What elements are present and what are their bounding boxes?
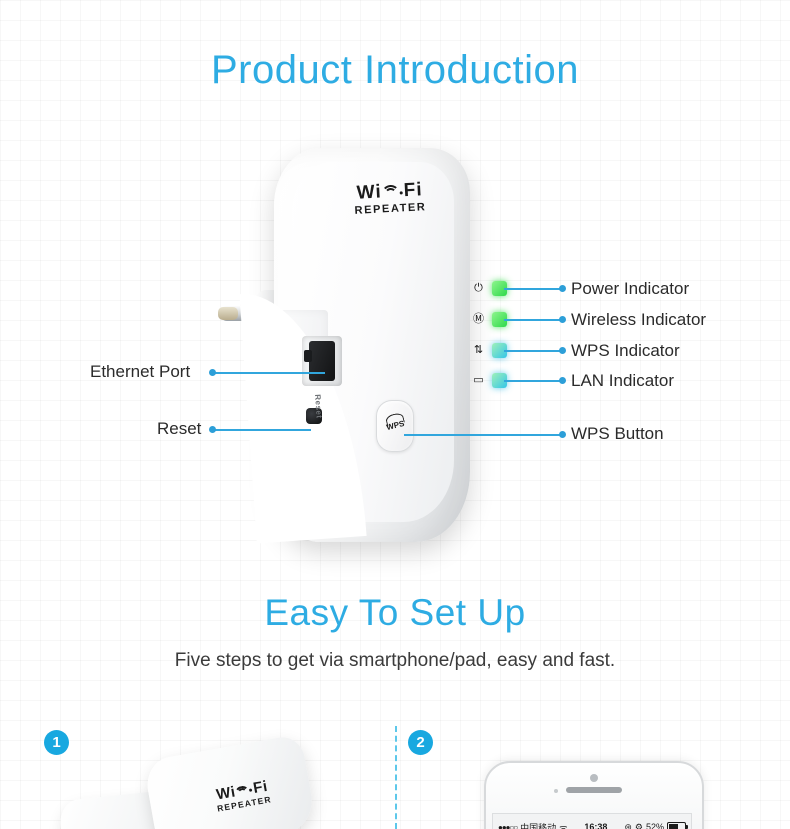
carrier-name: 中国移动 bbox=[520, 821, 556, 829]
callout-label-wps-button: WPS Button bbox=[571, 424, 664, 444]
callout-line-wps-button bbox=[404, 434, 564, 436]
phone-speaker-grille bbox=[566, 787, 622, 793]
rotation-lock-icon: ⚙ bbox=[635, 822, 643, 829]
phone-camera-icon bbox=[590, 774, 598, 782]
callout-dot-wps bbox=[559, 347, 566, 354]
wps-icon: ⇅ bbox=[472, 344, 485, 357]
status-bar-right: ⊛ ⚙ 52% bbox=[624, 822, 686, 829]
wifi-signal-icon bbox=[381, 185, 399, 200]
callout-line-wps bbox=[504, 350, 564, 352]
callout-label-wps-indicator: WPS Indicator bbox=[571, 341, 680, 361]
wifi-repeater-illustration: WiFi REPEATER Reset ⏻ Ⓜ ⇅ ▭ bbox=[196, 140, 556, 560]
callout-label-ethernet-port: Ethernet Port bbox=[90, 362, 190, 382]
callout-line-wireless bbox=[504, 319, 564, 321]
battery-icon bbox=[667, 822, 686, 829]
callout-dot-wps-button bbox=[559, 431, 566, 438]
callout-label-wireless-indicator: Wireless Indicator bbox=[571, 310, 706, 330]
callout-dot-power bbox=[559, 285, 566, 292]
wps-button[interactable]: WPS bbox=[376, 400, 414, 452]
infographic-page: Product Introduction WiFi REPEATER Reset… bbox=[0, 0, 790, 829]
battery-percent: 52% bbox=[646, 822, 664, 829]
brand-fi-text: Fi bbox=[403, 179, 423, 201]
callout-line-power bbox=[504, 288, 564, 290]
status-bar-left: ●●●○○ 中国移动 ᯤ bbox=[498, 821, 567, 829]
brand-wi-text: Wi bbox=[356, 181, 382, 203]
step-number-2: 2 bbox=[408, 730, 433, 755]
callout-label-power-indicator: Power Indicator bbox=[571, 279, 689, 299]
wireless-icon: Ⓜ bbox=[472, 313, 485, 326]
wifi-dot-icon bbox=[400, 191, 403, 194]
step1-wifi-signal-icon bbox=[235, 785, 250, 798]
callout-dot-lan bbox=[559, 377, 566, 384]
phone-status-bar: ●●●○○ 中国移动 ᯤ 16:38 ⊛ ⚙ 52% bbox=[492, 813, 692, 829]
ethernet-port[interactable] bbox=[302, 336, 342, 386]
power-plug-prong-tip bbox=[218, 307, 238, 320]
callout-dot-reset bbox=[209, 426, 216, 433]
lan-icon: ▭ bbox=[472, 374, 485, 387]
callout-line-reset bbox=[213, 429, 311, 431]
step-divider bbox=[395, 726, 397, 829]
page-title-product-introduction: Product Introduction bbox=[0, 48, 790, 93]
phone-sensor-icon bbox=[554, 789, 558, 793]
step1-repeater-primary bbox=[143, 734, 317, 829]
callout-line-lan bbox=[504, 380, 564, 382]
status-bar-time: 16:38 bbox=[567, 822, 624, 829]
ethernet-port-hole bbox=[309, 341, 335, 381]
power-icon: ⏻ bbox=[472, 282, 485, 295]
brand-logo: WiFi REPEATER bbox=[333, 179, 447, 218]
wifi-icon: ᯤ bbox=[559, 821, 567, 829]
callout-line-ethernet bbox=[213, 372, 325, 374]
callout-dot-wireless bbox=[559, 316, 566, 323]
reset-button-label: Reset bbox=[313, 394, 324, 419]
callout-label-lan-indicator: LAN Indicator bbox=[571, 371, 674, 391]
step-number-1: 1 bbox=[44, 730, 69, 755]
alarm-icon: ⊛ bbox=[624, 822, 632, 829]
ethernet-port-clip bbox=[304, 350, 312, 362]
callout-label-reset: Reset bbox=[157, 419, 201, 439]
section-title-easy-to-set-up: Easy To Set Up bbox=[0, 592, 790, 634]
smartphone-illustration: ●●●○○ 中国移动 ᯤ 16:38 ⊛ ⚙ 52% bbox=[484, 761, 704, 829]
signal-strength-icon: ●●●○○ bbox=[498, 823, 517, 829]
callout-dot-ethernet bbox=[209, 369, 216, 376]
section-subtitle: Five steps to get via smartphone/pad, ea… bbox=[0, 650, 790, 672]
